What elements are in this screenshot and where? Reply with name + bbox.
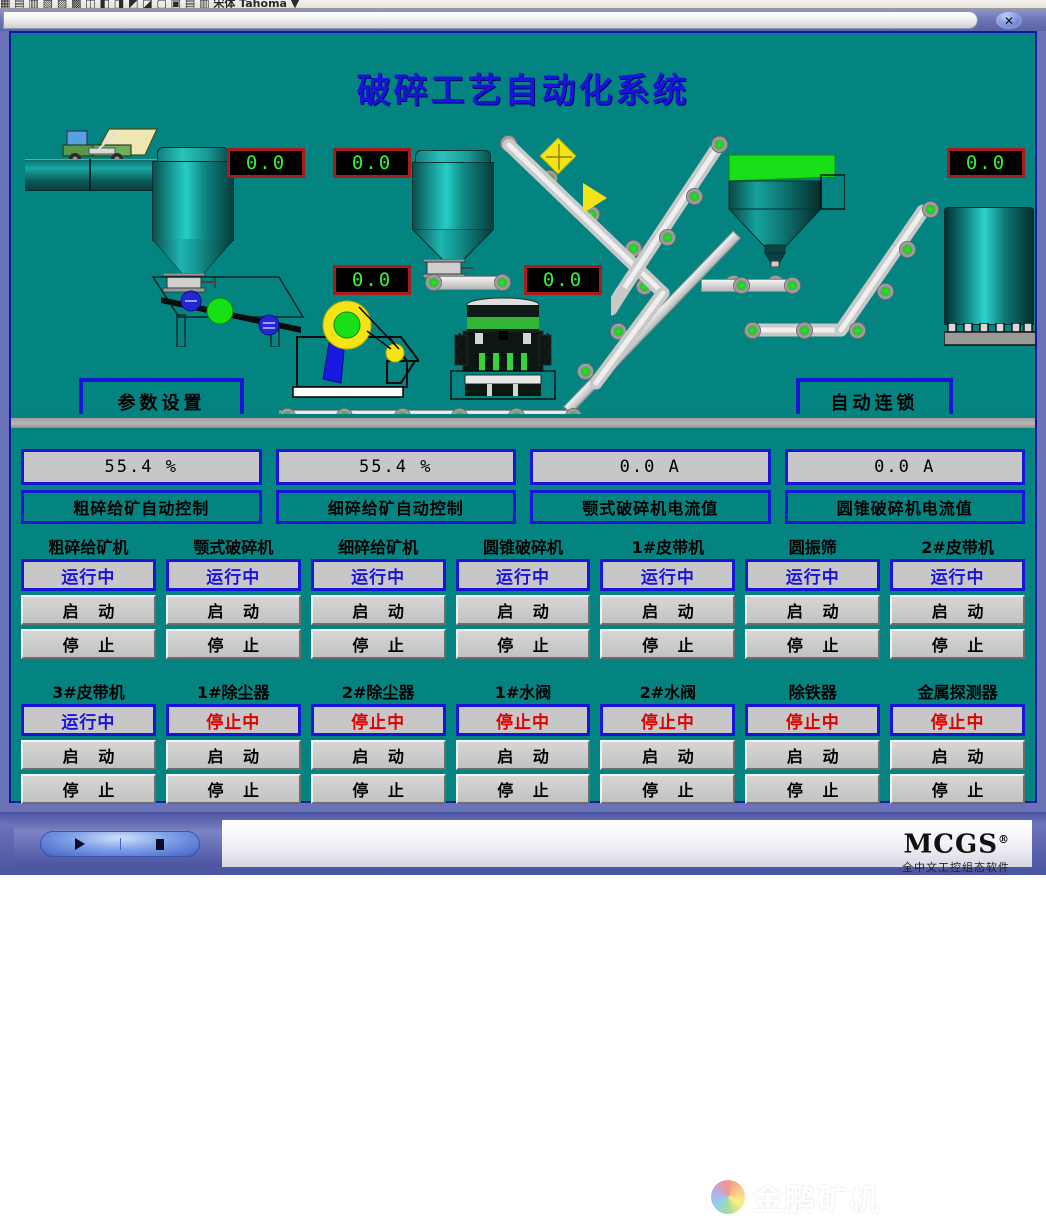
device-title: 圆振筛 bbox=[745, 537, 880, 559]
vendor-watermark: 金鹏矿机 bbox=[711, 1172, 1011, 1222]
fine-bin-level-readout: 0.0 bbox=[333, 148, 411, 178]
device-title: 1#水阀 bbox=[456, 682, 591, 704]
meter-label-button[interactable]: 圆锥破碎机电流值 bbox=[785, 490, 1026, 524]
stop-button[interactable]: 停 止 bbox=[166, 629, 301, 659]
stop-button[interactable]: 停 止 bbox=[456, 629, 591, 659]
meter-value: 0.0 A bbox=[530, 449, 771, 485]
meter-value: 55.4 % bbox=[21, 449, 262, 485]
device-cell-2: 细碎给矿机运行中启 动停 止 bbox=[311, 537, 446, 659]
stop-button[interactable]: 停 止 bbox=[166, 774, 301, 804]
device-cell-6: 2#皮带机运行中启 动停 止 bbox=[890, 537, 1025, 659]
device-cell-5: 圆振筛运行中启 动停 止 bbox=[745, 537, 880, 659]
play-icon[interactable] bbox=[41, 838, 121, 850]
toolbar-glyph-strip: ▦ ▤ ▥ ▧ ▨ ▩ ◫ ◧ ◨ ◩ ◪ ▢ ▣ ▤ ▥ 宋体 Tahoma … bbox=[0, 0, 299, 8]
roller-icon bbox=[744, 322, 761, 339]
device-cell-6: 金属探测器停止中启 动停 止 bbox=[890, 682, 1025, 804]
device-status-badge: 停止中 bbox=[311, 704, 446, 736]
device-cell-5: 除铁器停止中启 动停 止 bbox=[745, 682, 880, 804]
device-title: 2#水阀 bbox=[600, 682, 735, 704]
vendor-watermark-text: 金鹏矿机 bbox=[753, 1175, 881, 1219]
roller-icon bbox=[577, 363, 594, 380]
cone-crusher bbox=[443, 295, 563, 403]
feed-pipe bbox=[25, 159, 171, 191]
start-button[interactable]: 启 动 bbox=[456, 740, 591, 770]
device-status-badge: 停止中 bbox=[456, 704, 591, 736]
stop-button[interactable]: 停 止 bbox=[600, 774, 735, 804]
registered-mark: ® bbox=[998, 833, 1010, 846]
meter-row: 55.4 % 粗碎给矿自动控制 55.4 % 细碎给矿自动控制 0.0 A 颚式… bbox=[21, 449, 1025, 527]
transport-buttons bbox=[40, 831, 200, 857]
start-button[interactable]: 启 动 bbox=[311, 740, 446, 770]
start-button[interactable]: 启 动 bbox=[745, 740, 880, 770]
device-grid-row-2: 3#皮带机运行中启 动停 止1#除尘器停止中启 动停 止2#除尘器停止中启 动停… bbox=[21, 682, 1025, 804]
truncated-toolbar[interactable]: ▦ ▤ ▥ ▧ ▨ ▩ ◫ ◧ ◨ ◩ ◪ ▢ ▣ ▤ ▥ 宋体 Tahoma … bbox=[0, 0, 1046, 9]
device-status-badge: 停止中 bbox=[600, 704, 735, 736]
device-status-badge: 运行中 bbox=[890, 559, 1025, 591]
stop-button[interactable]: 停 止 bbox=[21, 774, 156, 804]
meter-cell: 0.0 A 颚式破碎机电流值 bbox=[530, 449, 771, 527]
start-button[interactable]: 启 动 bbox=[21, 595, 156, 625]
vibrating-feeder bbox=[151, 269, 311, 347]
roller-icon bbox=[711, 136, 728, 153]
meter-label-button[interactable]: 细碎给矿自动控制 bbox=[276, 490, 517, 524]
start-button[interactable]: 启 动 bbox=[21, 740, 156, 770]
start-button[interactable]: 启 动 bbox=[600, 740, 735, 770]
close-icon[interactable]: ✕ bbox=[996, 12, 1022, 29]
roller-icon bbox=[659, 229, 676, 246]
auto-interlock-button[interactable]: 自动连锁 bbox=[796, 378, 953, 414]
stop-button[interactable]: 停 止 bbox=[745, 774, 880, 804]
device-title: 金属探测器 bbox=[890, 682, 1025, 704]
status-bar: MCGS® 全中文工控组态软件 bbox=[0, 812, 1046, 875]
coarse-bin-body bbox=[152, 161, 234, 241]
status-bar-inset: MCGS® 全中文工控组态软件 bbox=[14, 820, 1032, 867]
stop-button[interactable]: 停 止 bbox=[456, 774, 591, 804]
device-title: 圆锥破碎机 bbox=[456, 537, 591, 559]
device-title: 颚式破碎机 bbox=[166, 537, 301, 559]
meter-value: 0.0 A bbox=[785, 449, 1026, 485]
start-button[interactable]: 启 动 bbox=[166, 595, 301, 625]
device-status-badge: 停止中 bbox=[166, 704, 301, 736]
product-silo-legs bbox=[944, 323, 1035, 347]
cone-feeder-readout: 0.0 bbox=[524, 265, 602, 295]
application-window: ✕ 破碎工艺自动化系统 bbox=[0, 9, 1046, 812]
stop-button[interactable]: 停 止 bbox=[21, 629, 156, 659]
stop-button[interactable]: 停 止 bbox=[311, 774, 446, 804]
transport-panel bbox=[14, 820, 222, 867]
device-title: 1#皮带机 bbox=[600, 537, 735, 559]
start-button[interactable]: 启 动 bbox=[456, 595, 591, 625]
stop-button[interactable]: 停 止 bbox=[890, 774, 1025, 804]
control-panel: 55.4 % 粗碎给矿自动控制 55.4 % 细碎给矿自动控制 0.0 A 颚式… bbox=[11, 432, 1035, 801]
start-button[interactable]: 启 动 bbox=[600, 595, 735, 625]
device-title: 粗碎给矿机 bbox=[21, 537, 156, 559]
roller-icon bbox=[849, 322, 866, 339]
roller-icon bbox=[636, 278, 653, 295]
device-cell-4: 2#水阀停止中启 动停 止 bbox=[600, 682, 735, 804]
device-status-badge: 停止中 bbox=[745, 704, 880, 736]
device-title: 除铁器 bbox=[745, 682, 880, 704]
meter-cell: 0.0 A 圆锥破碎机电流值 bbox=[785, 449, 1026, 527]
hmi-screen: 破碎工艺自动化系统 bbox=[9, 31, 1037, 803]
stop-button[interactable]: 停 止 bbox=[311, 629, 446, 659]
jaw-feeder-readout: 0.0 bbox=[333, 265, 411, 295]
window-titlebar: ✕ bbox=[0, 9, 1046, 31]
roller-icon bbox=[796, 322, 813, 339]
device-title: 细碎给矿机 bbox=[311, 537, 446, 559]
meter-label-button[interactable]: 颚式破碎机电流值 bbox=[530, 490, 771, 524]
flow-arrow-icon bbox=[583, 183, 607, 213]
device-cell-3: 圆锥破碎机运行中启 动停 止 bbox=[456, 537, 591, 659]
conveyor-belt-to-silo bbox=[737, 197, 937, 347]
titlebar-inset bbox=[3, 11, 978, 29]
device-status-badge: 运行中 bbox=[456, 559, 591, 591]
flow-diamond-cross-icon bbox=[543, 141, 575, 173]
start-button[interactable]: 启 动 bbox=[745, 595, 880, 625]
roller-icon bbox=[625, 240, 642, 257]
fine-bin-body bbox=[412, 162, 494, 230]
mcgs-brand-name: MCGS® bbox=[902, 826, 1010, 859]
panel-separator bbox=[11, 414, 1035, 432]
start-button[interactable]: 启 动 bbox=[311, 595, 446, 625]
device-title: 2#除尘器 bbox=[311, 682, 446, 704]
meter-value: 55.4 % bbox=[276, 449, 517, 485]
fine-bin-cone bbox=[412, 229, 494, 261]
mcgs-brand: MCGS® 全中文工控组态软件 bbox=[902, 826, 1010, 875]
stop-icon[interactable] bbox=[121, 839, 200, 850]
device-grid-row-1: 粗碎给矿机运行中启 动停 止颚式破碎机运行中启 动停 止细碎给矿机运行中启 动停… bbox=[21, 537, 1025, 659]
device-status-badge: 运行中 bbox=[166, 559, 301, 591]
device-cell-2: 2#除尘器停止中启 动停 止 bbox=[311, 682, 446, 804]
device-title: 1#除尘器 bbox=[166, 682, 301, 704]
page-title: 破碎工艺自动化系统 bbox=[11, 63, 1035, 112]
device-cell-3: 1#水阀停止中启 动停 止 bbox=[456, 682, 591, 804]
start-button[interactable]: 启 动 bbox=[890, 740, 1025, 770]
product-silo-level-readout: 0.0 bbox=[947, 148, 1025, 178]
vendor-logo-icon bbox=[711, 1180, 745, 1214]
meter-cell: 55.4 % 粗碎给矿自动控制 bbox=[21, 449, 262, 527]
device-cell-4: 1#皮带机运行中启 动停 止 bbox=[600, 537, 735, 659]
device-cell-0: 粗碎给矿机运行中启 动停 止 bbox=[21, 537, 156, 659]
device-title: 3#皮带机 bbox=[21, 682, 156, 704]
roller-icon bbox=[494, 274, 511, 291]
roller-icon bbox=[610, 323, 627, 340]
device-title: 2#皮带机 bbox=[890, 537, 1025, 559]
device-cell-1: 1#除尘器停止中启 动停 止 bbox=[166, 682, 301, 804]
start-button[interactable]: 启 动 bbox=[890, 595, 1025, 625]
roller-icon bbox=[922, 201, 939, 218]
roller-icon bbox=[877, 283, 894, 300]
roller-icon bbox=[686, 188, 703, 205]
product-silo bbox=[944, 207, 1034, 325]
device-status-badge: 运行中 bbox=[600, 559, 735, 591]
device-cell-0: 3#皮带机运行中启 动停 止 bbox=[21, 682, 156, 804]
device-status-badge: 停止中 bbox=[890, 704, 1025, 736]
jaw-crusher bbox=[289, 295, 419, 403]
conveyor-belt-1 bbox=[563, 230, 741, 414]
feed-pipe-joint bbox=[89, 159, 91, 191]
device-status-badge: 运行中 bbox=[311, 559, 446, 591]
device-status-badge: 运行中 bbox=[745, 559, 880, 591]
stop-button[interactable]: 停 止 bbox=[745, 629, 880, 659]
start-button[interactable]: 启 动 bbox=[166, 740, 301, 770]
parameter-settings-button[interactable]: 参数设置 bbox=[79, 378, 244, 414]
stop-button[interactable]: 停 止 bbox=[890, 629, 1025, 659]
device-status-badge: 运行中 bbox=[21, 704, 156, 736]
device-cell-1: 颚式破碎机运行中启 动停 止 bbox=[166, 537, 301, 659]
roller-icon bbox=[899, 241, 916, 258]
meter-label-button[interactable]: 粗碎给矿自动控制 bbox=[21, 490, 262, 524]
stop-button[interactable]: 停 止 bbox=[600, 629, 735, 659]
meter-cell: 55.4 % 细碎给矿自动控制 bbox=[276, 449, 517, 527]
device-status-badge: 运行中 bbox=[21, 559, 156, 591]
roller-icon bbox=[425, 274, 442, 291]
roller-icon bbox=[500, 135, 517, 152]
mcgs-brand-tagline: 全中文工控组态软件 bbox=[902, 859, 1010, 875]
process-mimic-diagram: 破碎工艺自动化系统 bbox=[11, 33, 1035, 414]
coarse-bin-level-readout: 0.0 bbox=[227, 148, 305, 178]
